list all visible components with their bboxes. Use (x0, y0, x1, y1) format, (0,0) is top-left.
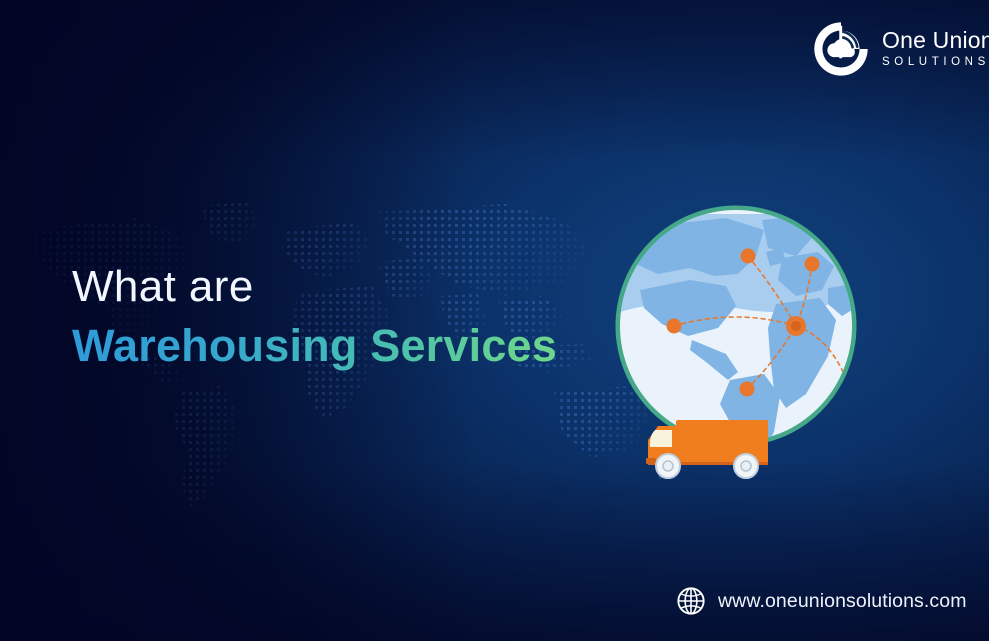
brand-name: One Union (882, 29, 989, 52)
globe-wireframe-icon (676, 586, 706, 616)
node-north-europe (805, 257, 820, 272)
headline-line-1: What are (72, 264, 592, 311)
delivery-truck-icon (646, 420, 768, 478)
brand-logo[interactable]: One Union SOLUTIONS (812, 20, 989, 78)
footer-website[interactable]: www.oneunionsolutions.com (676, 586, 967, 616)
brand-wordmark: One Union SOLUTIONS (882, 29, 989, 69)
global-logistics-illustration (606, 204, 866, 484)
node-south-america (740, 382, 755, 397)
brand-tagline: SOLUTIONS (882, 57, 989, 69)
page-title: What are Warehousing Services (72, 264, 592, 371)
cloud-signal-circle-icon (812, 20, 870, 78)
warehousing-services-banner: One Union SOLUTIONS What are Warehousing… (0, 0, 989, 641)
node-north-atlantic (741, 249, 756, 264)
headline-line-2: Warehousing Services (72, 321, 592, 371)
node-north-america (667, 319, 682, 334)
website-url-text: www.oneunionsolutions.com (718, 590, 967, 613)
node-hub-inner (791, 321, 801, 331)
